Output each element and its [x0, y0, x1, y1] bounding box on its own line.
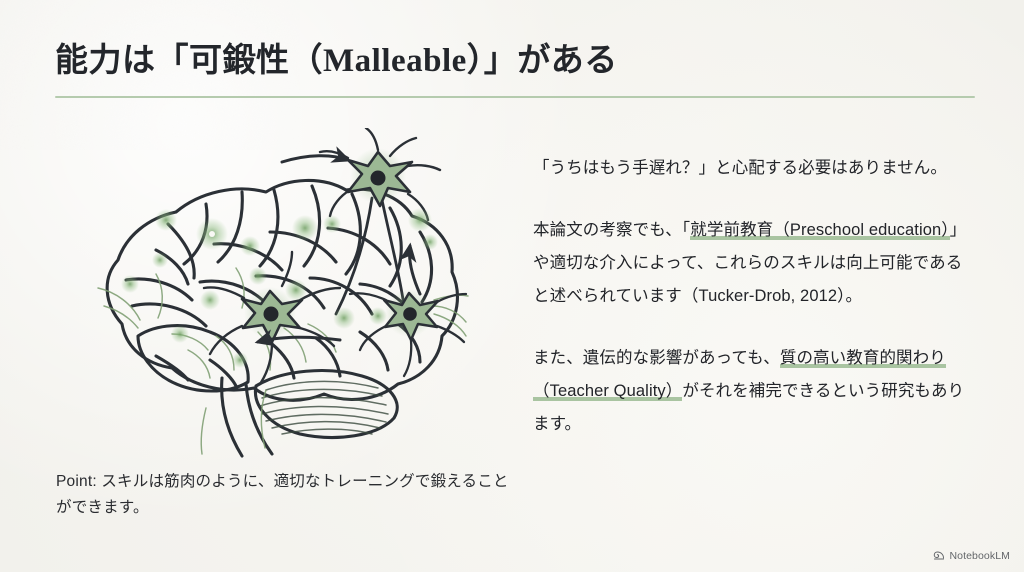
- neuron-top: [320, 128, 440, 220]
- body-paragraph-2: 本論文の考察でも、「就学前教育（Preschool education）」や適切…: [533, 214, 973, 313]
- para2-before: 本論文の考察でも、「: [533, 221, 690, 239]
- illustration-caption: Point: スキルは筋肉のように、適切なトレーニングで鍛えることができます。: [56, 469, 516, 521]
- arrow-top-right: [282, 156, 348, 162]
- body-text-column: 「うちはもう手遅れ？」と心配する必要はありません。 本論文の考察でも、「就学前教…: [533, 152, 973, 441]
- neuron-right: [350, 289, 466, 376]
- title-divider-rule: [55, 96, 975, 98]
- brain-neuron-illustration: [60, 128, 520, 458]
- para3-before: また、遺伝的な影響があっても、: [533, 349, 780, 367]
- neuron-middle: [204, 252, 340, 384]
- body-paragraph-1: 「うちはもう手遅れ？」と心配する必要はありません。: [533, 152, 973, 185]
- notebooklm-watermark: NotebookLM: [933, 550, 1010, 562]
- body-paragraph-3: また、遺伝的な影響があっても、質の高い教育的関わり（Teacher Qualit…: [533, 342, 973, 441]
- para2-highlight: 就学前教育（Preschool education）: [690, 221, 949, 240]
- notebooklm-label: NotebookLM: [949, 550, 1010, 562]
- arrow-right-up: [409, 246, 420, 294]
- slide-title: 能力は「可鍛性（Malleable）」がある: [55, 40, 955, 82]
- slide-canvas: 能力は「可鍛性（Malleable）」がある: [0, 0, 1024, 572]
- notebooklm-spiral-icon: [933, 550, 945, 562]
